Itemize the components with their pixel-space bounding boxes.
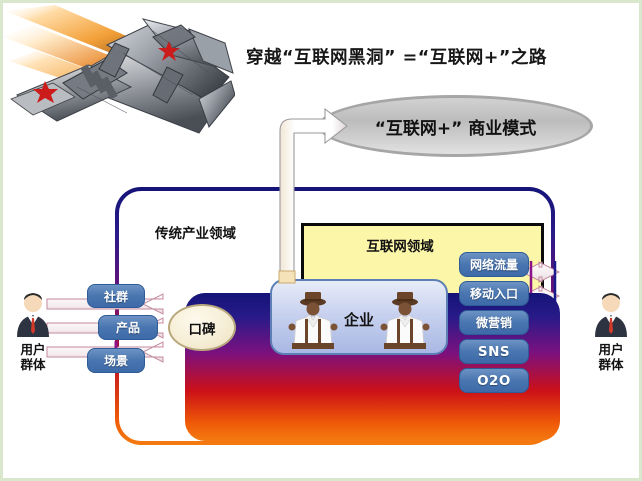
- enterprise-label: 企业: [272, 309, 446, 330]
- businessman-avatar-icon-left: [13, 291, 53, 337]
- word-of-mouth-ellipse[interactable]: 口碑: [168, 304, 236, 351]
- users-left-caption: 用户 群体: [3, 342, 63, 372]
- diagram-canvas: 穿越“互联网黑洞” =“互联网+”之路 “互联网+” 商业模式 互联网领域 传统…: [0, 0, 642, 481]
- users-right-caption: 用户 群体: [581, 342, 641, 372]
- users-left-line2: 群体: [3, 357, 63, 372]
- word-of-mouth-label: 口碑: [189, 318, 216, 338]
- chip-left-2[interactable]: 场景: [87, 348, 145, 373]
- traditional-domain-label: 传统产业领域: [155, 222, 236, 242]
- chip-right-4[interactable]: O2O: [459, 368, 529, 393]
- chip-left-0-label: 社群: [104, 288, 128, 305]
- chip-right-0-label: 网络流量: [470, 256, 518, 273]
- chip-right-1-label: 移动入口: [470, 285, 518, 302]
- page-title: 穿越“互联网黑洞” =“互联网+”之路: [246, 44, 618, 69]
- businessman-avatar-icon-right: [591, 291, 631, 337]
- chip-right-4-label: O2O: [477, 373, 511, 389]
- chip-right-0[interactable]: 网络流量: [459, 252, 529, 277]
- business-model-label: “互联网+” 商业模式: [375, 114, 537, 139]
- chip-right-2[interactable]: 微营销: [459, 310, 529, 335]
- enterprise-box[interactable]: 企业: [270, 279, 448, 355]
- chip-right-2-label: 微营销: [476, 314, 512, 331]
- chip-left-2-label: 场景: [104, 352, 128, 369]
- chip-left-0[interactable]: 社群: [87, 284, 145, 308]
- chip-right-3[interactable]: SNS: [459, 339, 529, 364]
- fighter-jet-icon: [3, 3, 235, 145]
- chip-right-3-label: SNS: [478, 344, 510, 360]
- users-left-line1: 用户: [3, 342, 63, 357]
- users-right-line2: 群体: [581, 357, 641, 372]
- chip-left-1-label: 产品: [116, 319, 140, 336]
- users-right-line1: 用户: [581, 342, 641, 357]
- business-model-ellipse[interactable]: “互联网+” 商业模式: [318, 95, 593, 157]
- chip-right-1[interactable]: 移动入口: [459, 281, 529, 306]
- chip-left-1[interactable]: 产品: [98, 315, 158, 340]
